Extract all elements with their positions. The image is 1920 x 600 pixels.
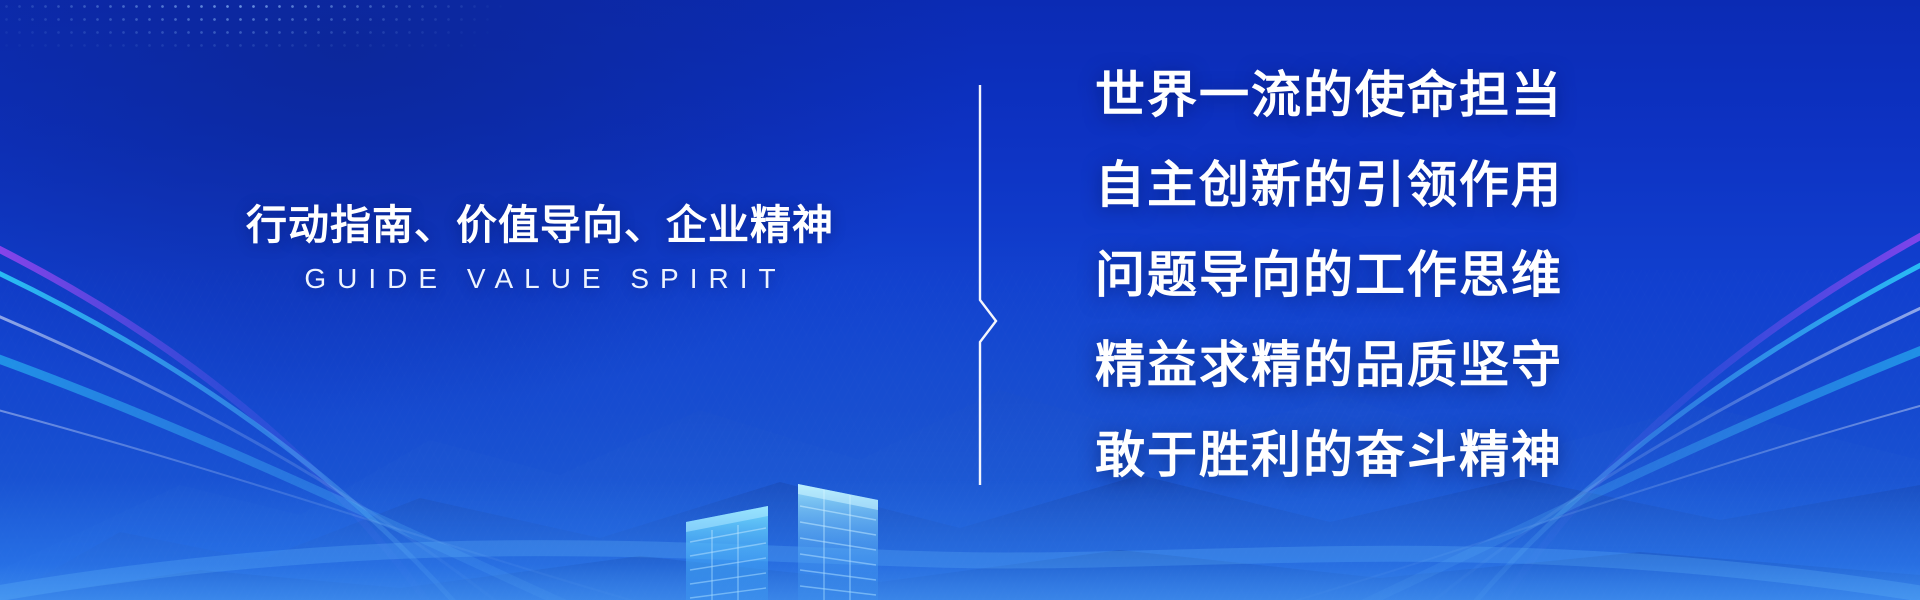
terrain-texture [0,270,1920,600]
vertical-divider [972,85,1004,485]
left-text-block: 行动指南、价值导向、企业精神 GUIDE VALUE SPIRIT [195,200,885,295]
right-line-1: 世界一流的使命担当 [1095,50,1615,140]
right-line-4: 精益求精的品质坚守 [1095,320,1615,410]
dot-grid-decoration [0,0,520,58]
chevron-right-icon [980,85,996,485]
banner-root: 行动指南、价值导向、企业精神 GUIDE VALUE SPIRIT 世界一流的使… [0,0,1920,600]
mountain-terrain-decoration [0,270,1920,600]
city-buildings-decoration [640,460,970,600]
right-line-5: 敢于胜利的奋斗精神 [1095,410,1615,500]
left-subtitle: GUIDE VALUE SPIRIT [195,263,885,295]
left-title: 行动指南、价值导向、企业精神 [195,200,885,251]
right-line-3: 问题导向的工作思维 [1095,230,1615,320]
bottom-glow-band [0,480,1920,600]
ridge-shapes [0,270,1920,600]
right-line-2: 自主创新的引领作用 [1095,140,1615,230]
right-text-block: 世界一流的使命担当 自主创新的引领作用 问题导向的工作思维 精益求精的品质坚守 … [1095,50,1615,500]
light-arc-decoration [0,0,1920,600]
